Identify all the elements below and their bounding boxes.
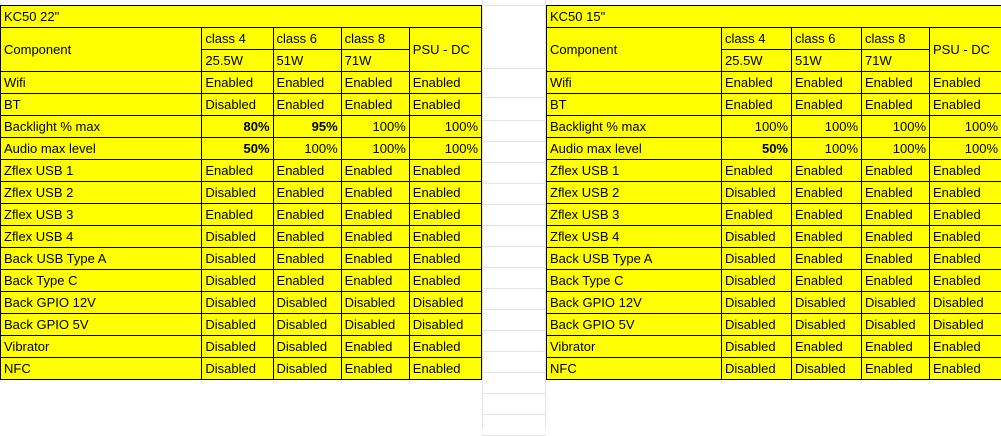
title-row: KC50 15" (547, 6, 1001, 28)
cell-value[interactable]: Enabled (341, 160, 409, 182)
cell-value[interactable]: Enabled (862, 358, 930, 380)
cell-value[interactable]: Enabled (792, 270, 862, 292)
table-row[interactable]: Audio max level50%100%100%100% (1, 138, 482, 160)
cell-value[interactable]: Enabled (722, 72, 792, 94)
cell-value[interactable]: 100% (341, 138, 409, 160)
cell-value[interactable]: 80% (202, 116, 273, 138)
cell-value[interactable]: Enabled (722, 160, 792, 182)
row-label: Zflex USB 3 (1, 204, 202, 226)
grid-line (482, 225, 546, 226)
table-row[interactable]: Back GPIO 12VDisabledDisabledDisabledDis… (547, 292, 1001, 314)
table-row[interactable]: Zflex USB 1EnabledEnabledEnabledEnabled (547, 160, 1001, 182)
cell-value[interactable]: Enabled (273, 226, 341, 248)
cell-value[interactable]: Disabled (409, 292, 481, 314)
cell-value[interactable]: Enabled (341, 204, 409, 226)
cell-value[interactable]: Enabled (792, 226, 862, 248)
cell-value[interactable]: Disabled (273, 292, 341, 314)
cell-value[interactable]: Disabled (409, 314, 481, 336)
cell-value[interactable]: Disabled (202, 248, 273, 270)
column-header-psu-dc: PSU - DC (930, 28, 1001, 72)
row-label: Wifi (1, 72, 202, 94)
column-header-class-2: class 6 (792, 28, 862, 50)
cell-value[interactable]: 100% (341, 116, 409, 138)
cell-value[interactable]: Enabled (273, 204, 341, 226)
column-header-component: Component (547, 28, 722, 72)
cell-value[interactable]: Enabled (862, 160, 930, 182)
table-row[interactable]: Back Type CDisabledEnabledEnabledEnabled (1, 270, 482, 292)
table-row[interactable]: Audio max level50%100%100%100% (547, 138, 1001, 160)
cell-value[interactable]: Enabled (792, 160, 862, 182)
table-row[interactable]: Back GPIO 5VDisabledDisabledDisabledDisa… (547, 314, 1001, 336)
cell-value[interactable]: Enabled (862, 94, 930, 116)
cell-value[interactable]: 100% (409, 138, 481, 160)
cell-value[interactable]: Enabled (202, 204, 273, 226)
row-label: Back Type C (547, 270, 722, 292)
grid-line (482, 5, 546, 6)
cell-value[interactable]: Enabled (341, 248, 409, 270)
row-label: Back GPIO 5V (547, 314, 722, 336)
column-header-class-3: class 8 (341, 28, 409, 50)
config-table[interactable]: KC50 15"Componentclass 4class 6class 8PS… (546, 5, 1001, 380)
table-row[interactable]: Zflex USB 4DisabledEnabledEnabledEnabled (547, 226, 1001, 248)
table-title: KC50 22" (1, 6, 482, 28)
cell-value[interactable]: Enabled (409, 72, 481, 94)
cell-value[interactable]: Enabled (273, 94, 341, 116)
cell-value[interactable]: Disabled (930, 292, 1001, 314)
cell-value[interactable]: Enabled (862, 182, 930, 204)
cell-value[interactable]: Enabled (862, 336, 930, 358)
row-label: BT (1, 94, 202, 116)
cell-value[interactable]: Disabled (202, 270, 273, 292)
row-label: Wifi (547, 72, 722, 94)
row-label: Back GPIO 12V (1, 292, 202, 314)
grid-line (482, 393, 546, 394)
spacer-column (482, 0, 546, 428)
cell-value[interactable]: Enabled (273, 270, 341, 292)
cell-value[interactable]: Disabled (792, 358, 862, 380)
table-kc50-15: KC50 15"Componentclass 4class 6class 8PS… (546, 5, 1001, 380)
cell-value[interactable]: 95% (273, 116, 341, 138)
header-row-class: Componentclass 4class 6class 8PSU - DC (1, 28, 482, 50)
column-header-wattage-1: 25.5W (202, 50, 273, 72)
cell-value[interactable]: 100% (930, 138, 1001, 160)
row-label: Backlight % max (1, 116, 202, 138)
table-row[interactable]: Back GPIO 5VDisabledDisabledDisabledDisa… (1, 314, 482, 336)
cell-value[interactable]: Enabled (341, 72, 409, 94)
table-row[interactable]: WifiEnabledEnabledEnabledEnabled (547, 72, 1001, 94)
cell-value[interactable]: Disabled (202, 292, 273, 314)
grid-line (482, 120, 546, 121)
cell-value[interactable]: Disabled (722, 248, 792, 270)
cell-value[interactable]: Disabled (202, 336, 273, 358)
table-row[interactable]: Zflex USB 2DisabledEnabledEnabledEnabled (547, 182, 1001, 204)
cell-value[interactable]: Enabled (341, 182, 409, 204)
cell-value[interactable]: 100% (862, 138, 930, 160)
cell-value[interactable]: Enabled (930, 248, 1001, 270)
grid-line (482, 309, 546, 310)
cell-value[interactable]: Enabled (409, 270, 481, 292)
column-header-class-1: class 4 (722, 28, 792, 50)
grid-line (482, 68, 546, 69)
spreadsheet-canvas: KC50 22"Componentclass 4class 6class 8PS… (0, 0, 1001, 428)
cell-value[interactable]: Enabled (409, 94, 481, 116)
table-row[interactable]: WifiEnabledEnabledEnabledEnabled (1, 72, 482, 94)
grid-line (482, 372, 546, 373)
cell-value[interactable]: Enabled (409, 204, 481, 226)
table-row[interactable]: Zflex USB 4DisabledEnabledEnabledEnabled (1, 226, 482, 248)
grid-line (482, 267, 546, 268)
cell-value[interactable]: Enabled (930, 160, 1001, 182)
cell-value[interactable]: Enabled (341, 336, 409, 358)
cell-value[interactable]: Enabled (862, 204, 930, 226)
cell-value[interactable]: Enabled (409, 248, 481, 270)
column-header-psu-dc: PSU - DC (409, 28, 481, 72)
grid-line (482, 97, 546, 98)
cell-value[interactable]: 100% (409, 116, 481, 138)
table-row[interactable]: Back USB Type ADisabledEnabledEnabledEna… (1, 248, 482, 270)
grid-line (482, 141, 546, 142)
cell-value[interactable]: Enabled (862, 270, 930, 292)
column-header-wattage-3: 71W (862, 50, 930, 72)
cell-value[interactable]: Disabled (862, 314, 930, 336)
row-label: Vibrator (547, 336, 722, 358)
cell-value[interactable]: Enabled (930, 358, 1001, 380)
grid-line (482, 246, 546, 247)
cell-value[interactable]: Disabled (722, 270, 792, 292)
cell-value[interactable]: Enabled (930, 72, 1001, 94)
column-header-class-3: class 8 (862, 28, 930, 50)
cell-value[interactable]: Enabled (930, 204, 1001, 226)
cell-value[interactable]: Disabled (202, 94, 273, 116)
row-label: Audio max level (1, 138, 202, 160)
cell-value[interactable]: 100% (273, 138, 341, 160)
cell-value[interactable]: Enabled (930, 94, 1001, 116)
cell-value[interactable]: Disabled (202, 182, 273, 204)
table-row[interactable]: Zflex USB 1EnabledEnabledEnabledEnabled (1, 160, 482, 182)
row-label: Back GPIO 5V (1, 314, 202, 336)
cell-value[interactable]: Disabled (722, 314, 792, 336)
cell-value[interactable]: Disabled (273, 314, 341, 336)
cell-value[interactable]: Enabled (202, 160, 273, 182)
cell-value[interactable]: Enabled (409, 358, 481, 380)
cell-value[interactable]: Enabled (792, 72, 862, 94)
grid-line (482, 288, 546, 289)
table-row[interactable]: Backlight % max100%100%100%100% (547, 116, 1001, 138)
cell-value[interactable]: Enabled (792, 336, 862, 358)
table-row[interactable]: BTEnabledEnabledEnabledEnabled (547, 94, 1001, 116)
header-row-class: Componentclass 4class 6class 8PSU - DC (547, 28, 1001, 50)
cell-value[interactable]: Enabled (273, 160, 341, 182)
cell-value[interactable]: Enabled (722, 94, 792, 116)
cell-value[interactable]: Enabled (792, 182, 862, 204)
row-label: Zflex USB 1 (1, 160, 202, 182)
cell-value[interactable]: Enabled (273, 72, 341, 94)
cell-value[interactable]: Enabled (930, 182, 1001, 204)
cell-value[interactable]: 100% (792, 116, 862, 138)
cell-value[interactable]: Enabled (862, 72, 930, 94)
cell-value[interactable]: Enabled (273, 248, 341, 270)
cell-value[interactable]: Enabled (862, 248, 930, 270)
cell-value[interactable]: Disabled (722, 336, 792, 358)
cell-value[interactable]: Enabled (930, 226, 1001, 248)
row-label: BT (547, 94, 722, 116)
cell-value[interactable]: Disabled (792, 292, 862, 314)
row-label: NFC (1, 358, 202, 380)
cell-value[interactable]: Disabled (862, 292, 930, 314)
row-label: Zflex USB 2 (547, 182, 722, 204)
cell-value[interactable]: Enabled (792, 204, 862, 226)
cell-value[interactable]: Enabled (409, 182, 481, 204)
cell-value[interactable]: Enabled (409, 160, 481, 182)
table-row[interactable]: Back GPIO 12VDisabledDisabledDisabledDis… (1, 292, 482, 314)
cell-value[interactable]: Disabled (273, 336, 341, 358)
table-row[interactable]: NFCDisabledDisabledEnabledEnabled (1, 358, 482, 380)
cell-value[interactable]: Disabled (792, 314, 862, 336)
grid-line (482, 351, 546, 352)
cell-value[interactable]: Enabled (862, 226, 930, 248)
row-label: Zflex USB 3 (547, 204, 722, 226)
table-row[interactable]: VibratorDisabledDisabledEnabledEnabled (1, 336, 482, 358)
cell-value[interactable]: Disabled (930, 314, 1001, 336)
table-row[interactable]: Zflex USB 3EnabledEnabledEnabledEnabled (1, 204, 482, 226)
table-row[interactable]: Back Type CDisabledEnabledEnabledEnabled (547, 270, 1001, 292)
cell-value[interactable]: 100% (930, 116, 1001, 138)
cell-value[interactable]: Enabled (722, 204, 792, 226)
cell-value[interactable]: Disabled (722, 182, 792, 204)
row-label: Zflex USB 2 (1, 182, 202, 204)
cell-value[interactable]: Enabled (409, 336, 481, 358)
column-header-wattage-1: 25.5W (722, 50, 792, 72)
cell-value[interactable]: Enabled (202, 72, 273, 94)
table-row[interactable]: Zflex USB 3EnabledEnabledEnabledEnabled (547, 204, 1001, 226)
cell-value[interactable]: Enabled (341, 226, 409, 248)
table-title: KC50 15" (547, 6, 1001, 28)
cell-value[interactable]: Disabled (273, 358, 341, 380)
row-label: Back USB Type A (1, 248, 202, 270)
row-label: Back USB Type A (547, 248, 722, 270)
column-header-wattage-2: 51W (792, 50, 862, 72)
cell-value[interactable]: Disabled (722, 358, 792, 380)
cell-value[interactable]: Enabled (792, 94, 862, 116)
grid-line (482, 183, 546, 184)
column-header-wattage-2: 51W (273, 50, 341, 72)
cell-value[interactable]: Enabled (273, 182, 341, 204)
grid-line (482, 414, 546, 415)
title-row: KC50 22" (1, 6, 482, 28)
grid-line (482, 162, 546, 163)
cell-value[interactable]: 100% (862, 116, 930, 138)
column-header-class-2: class 6 (273, 28, 341, 50)
cell-value[interactable]: Enabled (341, 270, 409, 292)
cell-value[interactable]: 100% (722, 116, 792, 138)
cell-value[interactable]: Enabled (792, 248, 862, 270)
cell-value[interactable]: Disabled (202, 226, 273, 248)
cell-value[interactable]: Disabled (341, 292, 409, 314)
cell-value[interactable]: Disabled (341, 314, 409, 336)
cell-value[interactable]: Enabled (341, 358, 409, 380)
cell-value[interactable]: Enabled (930, 270, 1001, 292)
row-label: Audio max level (547, 138, 722, 160)
column-header-component: Component (1, 28, 202, 72)
column-header-class-1: class 4 (202, 28, 273, 50)
cell-value[interactable]: 100% (792, 138, 862, 160)
cell-value[interactable]: Disabled (722, 292, 792, 314)
grid-line (482, 204, 546, 205)
row-label: Zflex USB 1 (547, 160, 722, 182)
table-row[interactable]: Backlight % max80%95%100%100% (1, 116, 482, 138)
table-row[interactable]: NFCDisabledDisabledEnabledEnabled (547, 358, 1001, 380)
cell-value[interactable]: Enabled (341, 94, 409, 116)
table-row[interactable]: Zflex USB 2DisabledEnabledEnabledEnabled (1, 182, 482, 204)
column-header-wattage-3: 71W (341, 50, 409, 72)
row-label: Zflex USB 4 (547, 226, 722, 248)
table-row[interactable]: Back USB Type ADisabledEnabledEnabledEna… (547, 248, 1001, 270)
row-label: Backlight % max (547, 116, 722, 138)
grid-line (482, 330, 546, 331)
cell-value[interactable]: Disabled (202, 358, 273, 380)
cell-value[interactable]: 50% (722, 138, 792, 160)
cell-value[interactable]: 50% (202, 138, 273, 160)
cell-value[interactable]: Enabled (409, 226, 481, 248)
table-row[interactable]: VibratorDisabledEnabledEnabledEnabled (547, 336, 1001, 358)
row-label: NFC (547, 358, 722, 380)
row-label: Vibrator (1, 336, 202, 358)
cell-value[interactable]: Enabled (930, 336, 1001, 358)
cell-value[interactable]: Disabled (722, 226, 792, 248)
table-row[interactable]: BTDisabledEnabledEnabledEnabled (1, 94, 482, 116)
grid-line-vertical (482, 0, 483, 428)
row-label: Back GPIO 12V (547, 292, 722, 314)
row-label: Zflex USB 4 (1, 226, 202, 248)
table-kc50-22: KC50 22"Componentclass 4class 6class 8PS… (0, 5, 482, 380)
cell-value[interactable]: Disabled (202, 314, 273, 336)
config-table[interactable]: KC50 22"Componentclass 4class 6class 8PS… (0, 5, 482, 380)
row-label: Back Type C (1, 270, 202, 292)
